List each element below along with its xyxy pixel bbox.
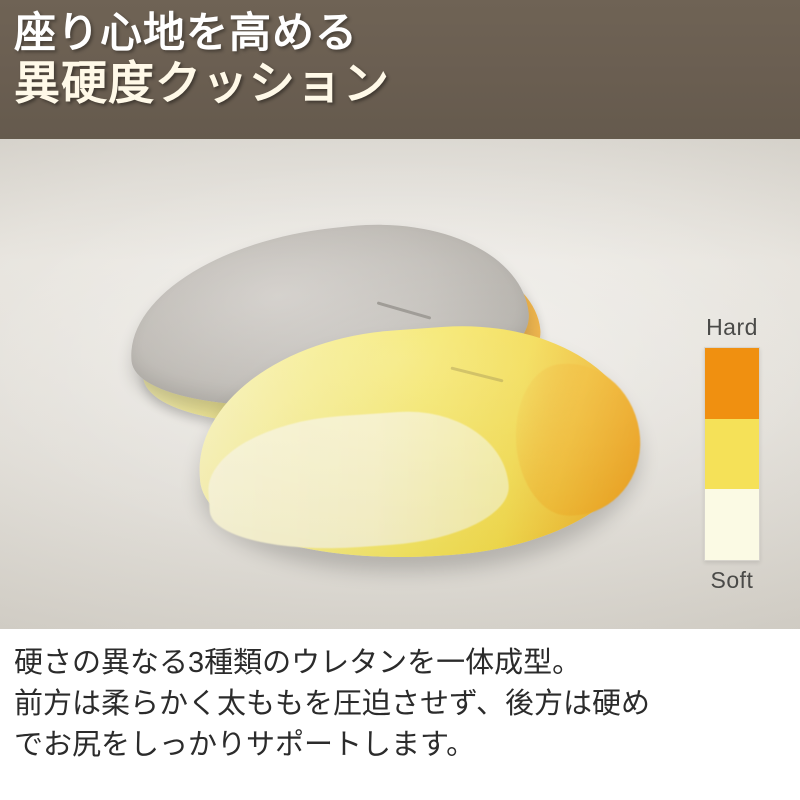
header-band: 座り心地を高める 異硬度クッション [0,0,800,139]
caption-line-1: 硬さの異なる3種類のウレタンを一体成型。 [14,643,800,684]
hardness-legend: Hard Soft [690,314,774,594]
promo-banner: 座り心地を高める 異硬度クッション Hard Soft [0,0,800,800]
header-title-line-2: 異硬度クッション [14,59,800,109]
legend-gradient-bar [704,347,760,561]
header-title-line-1: 座り心地を高める [14,10,800,55]
legend-segment-hard [705,348,759,419]
legend-segment-soft [705,489,759,560]
legend-segment-medium [705,419,759,490]
product-photo: Hard Soft [0,139,800,629]
legend-hard-label: Hard [690,314,774,341]
caption-line-3: でお尻をしっかりサポートします。 [14,725,800,766]
photo-vignette-overlay [0,139,800,629]
legend-soft-label: Soft [690,567,774,594]
caption-block: 硬さの異なる3種類のウレタンを一体成型。 前方は柔らかく太ももを圧迫させず、後方… [0,629,800,800]
caption-line-2: 前方は柔らかく太ももを圧迫させず、後方は硬め [14,684,800,725]
